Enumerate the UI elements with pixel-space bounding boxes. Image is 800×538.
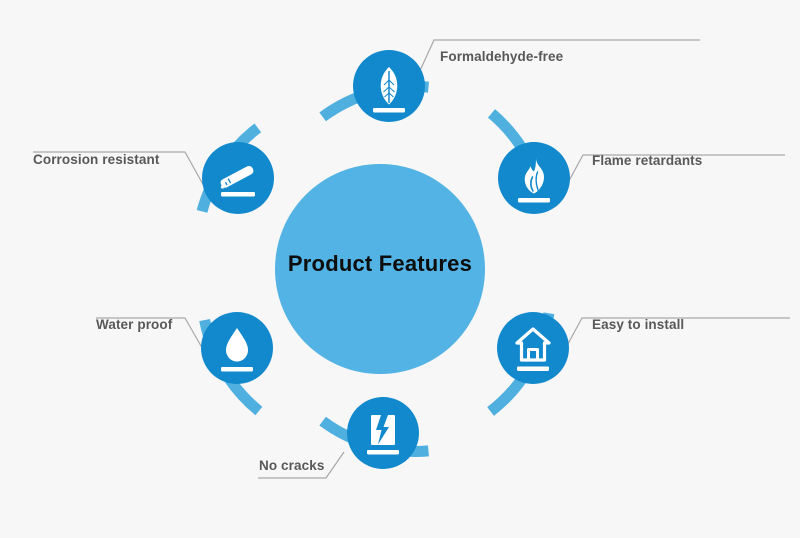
center-title: Product Features: [230, 251, 530, 277]
infographic-stage: Product Features Formaldehyde-free Flame…: [0, 0, 800, 538]
icon-node-corrosion-resistant[interactable]: [202, 142, 274, 214]
icon-node-water-proof[interactable]: [201, 312, 273, 384]
icon-node-formaldehyde-free[interactable]: [353, 50, 425, 122]
icon-node-flame-retardants[interactable]: [498, 142, 570, 214]
node-label-corrosion-resistant[interactable]: Corrosion resistant: [33, 152, 159, 167]
icon-node-no-cracks[interactable]: [347, 397, 419, 469]
node-label-no-cracks[interactable]: No cracks: [259, 458, 324, 473]
node-label-easy-to-install[interactable]: Easy to install: [592, 317, 684, 332]
node-label-formaldehyde-free[interactable]: Formaldehyde-free: [440, 49, 563, 64]
icon-node-easy-to-install[interactable]: [497, 312, 569, 384]
node-label-flame-retardants[interactable]: Flame retardants: [592, 153, 702, 168]
node-label-water-proof[interactable]: Water proof: [96, 317, 172, 332]
